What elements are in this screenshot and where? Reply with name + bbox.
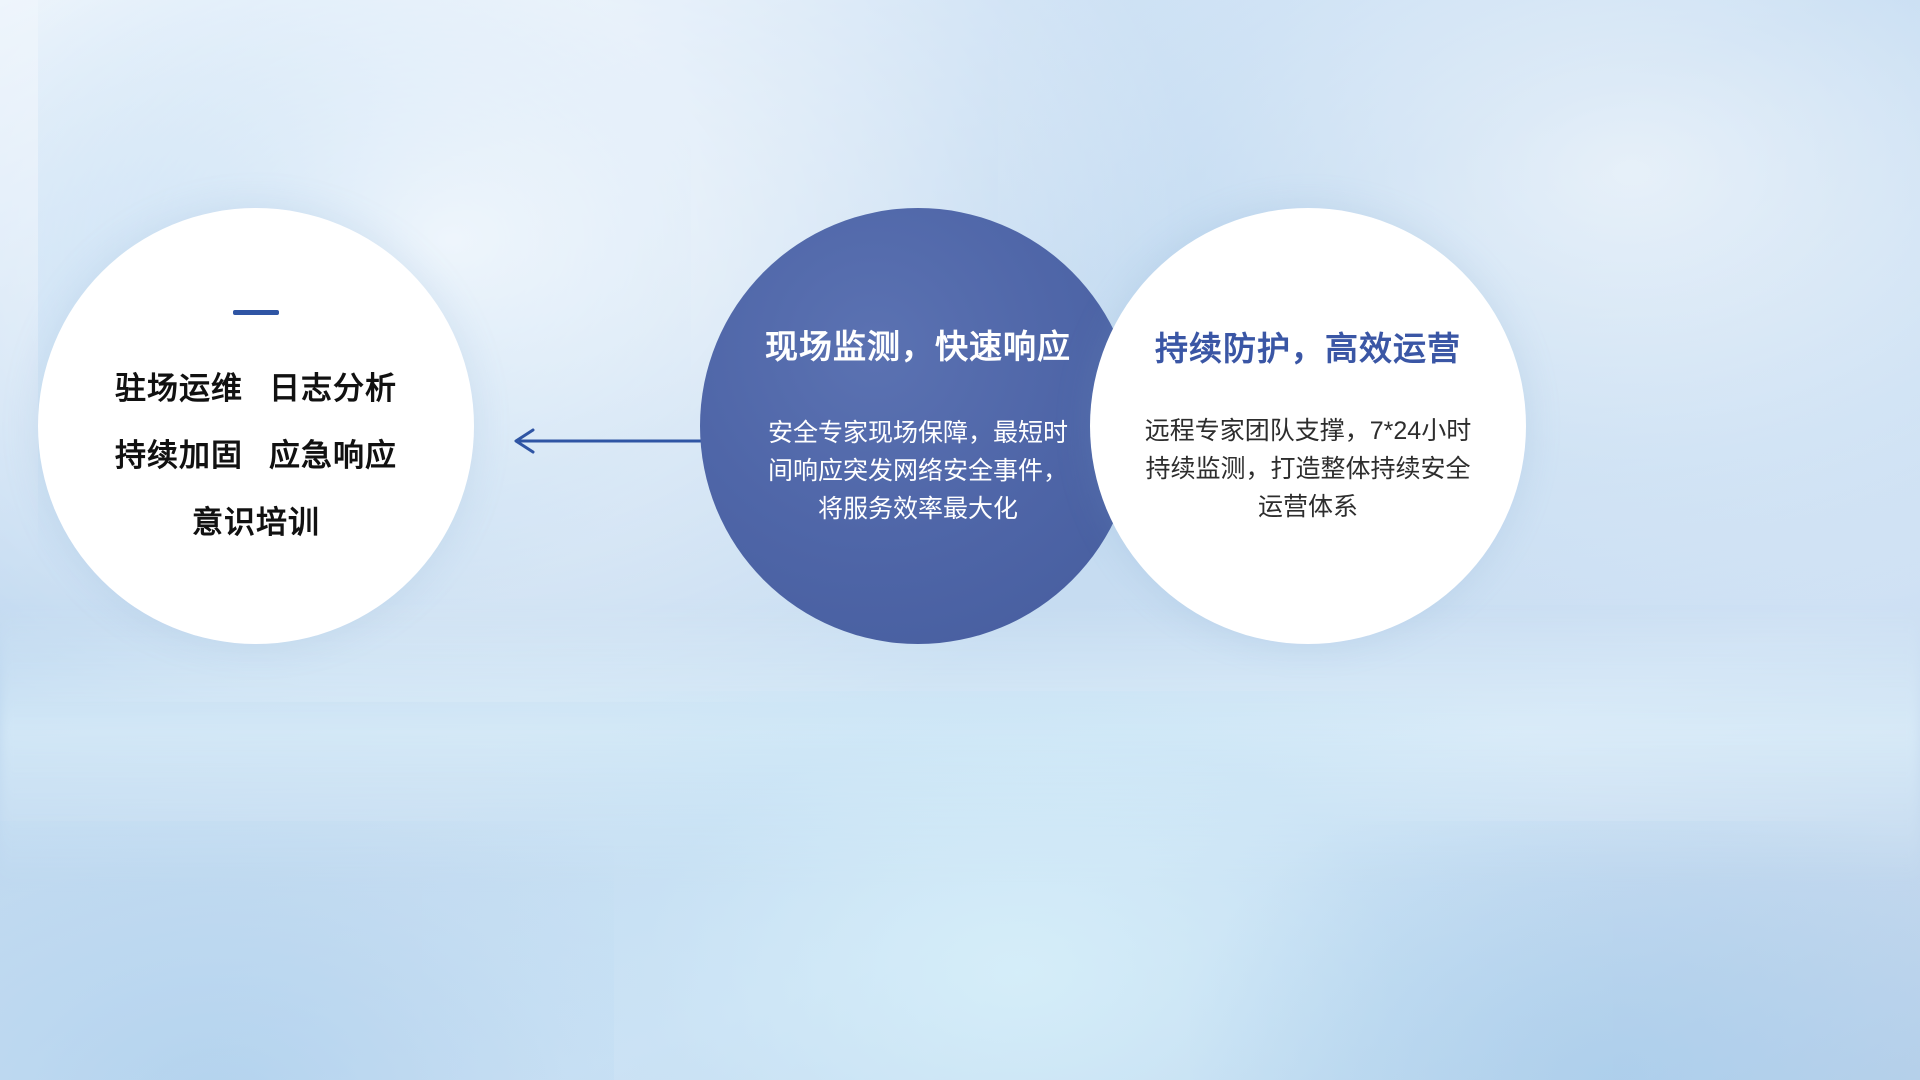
accent-dash-icon (233, 310, 279, 315)
capability-list: 驻场运维日志分析 持续加固应急响应 意识培训 (115, 363, 397, 542)
circle-continuous-protection[interactable]: 持续防护，高效运营 远程专家团队支撑，7*24小时持续监测，打造整体持续安全运营… (1090, 208, 1526, 644)
circle-body-text: 远程专家团队支撑，7*24小时持续监测，打造整体持续安全运营体系 (1143, 412, 1473, 526)
three-circle-diagram: 驻场运维日志分析 持续加固应急响应 意识培训 现场监测，快速响应 安全专家现场保… (0, 0, 1920, 1080)
circle-title: 现场监测，快速响应 (765, 320, 1071, 368)
list-item: 意识培训 (192, 497, 320, 542)
circle-title: 持续防护，高效运营 (1155, 322, 1461, 370)
list-item: 持续加固应急响应 (115, 430, 397, 475)
capability-label: 日志分析 (269, 371, 397, 406)
circle-onsite-monitoring[interactable]: 现场监测，快速响应 安全专家现场保障，最短时间响应突发网络安全事件，将服务效率最… (700, 208, 1136, 644)
arrow-left-icon (495, 421, 710, 461)
circle-body-text: 安全专家现场保障，最短时间响应突发网络安全事件，将服务效率最大化 (768, 414, 1068, 528)
circle-capabilities[interactable]: 驻场运维日志分析 持续加固应急响应 意识培训 (38, 208, 474, 644)
list-item: 驻场运维日志分析 (115, 363, 397, 408)
capability-label: 应急响应 (269, 438, 397, 473)
capability-label: 意识培训 (192, 505, 320, 540)
capability-label: 驻场运维 (115, 371, 243, 406)
capability-label: 持续加固 (115, 438, 243, 473)
